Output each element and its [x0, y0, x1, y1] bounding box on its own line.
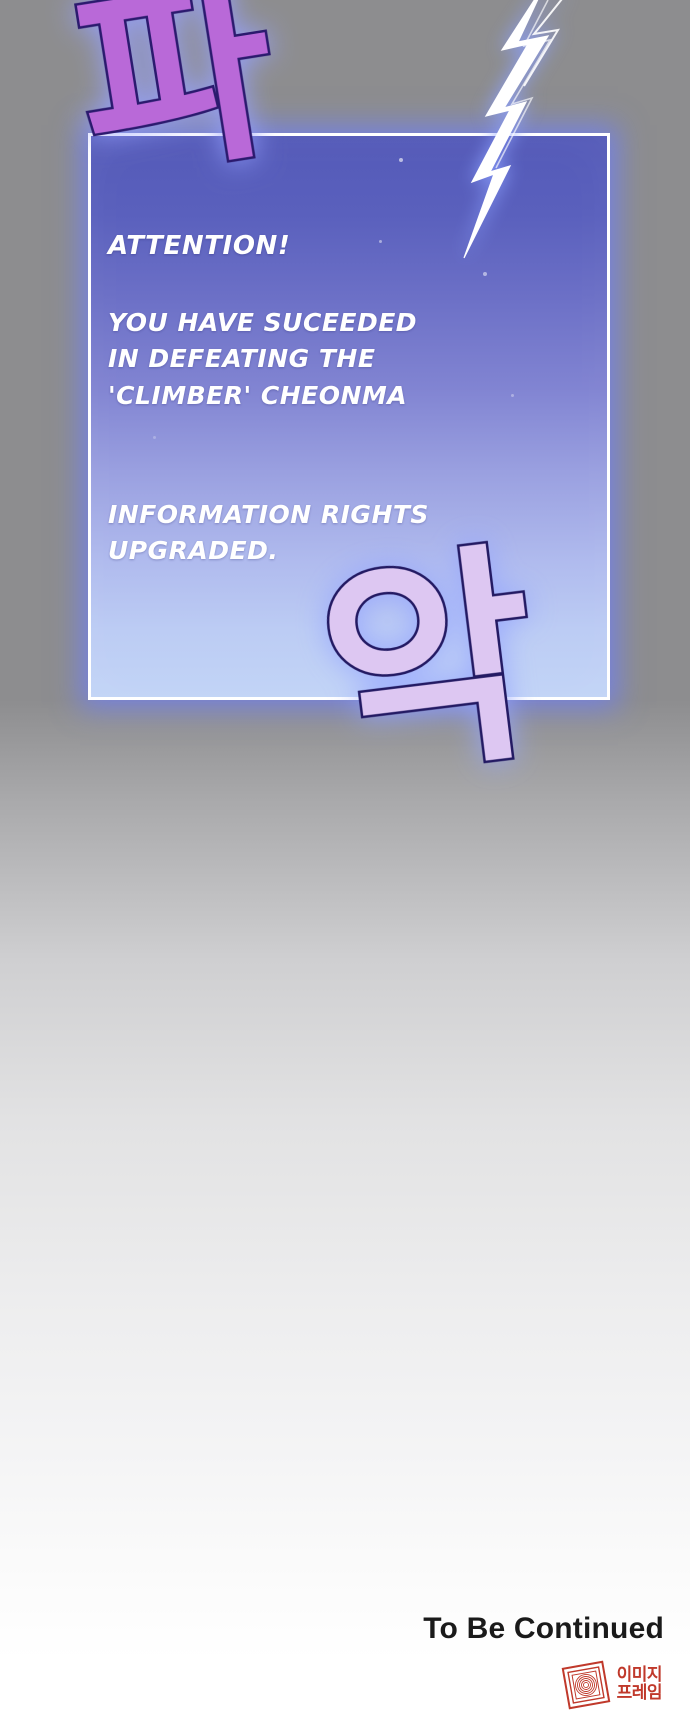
system-message-panel [88, 133, 610, 700]
panel-result-text: INFORMATION RIGHTS UPGRADED. [108, 497, 538, 570]
to-be-continued-label: To Be Continued [423, 1612, 664, 1646]
panel-heading: ATTENTION! [108, 228, 528, 265]
watermark-label: 이미지 프레임 [617, 1667, 662, 1703]
webtoon-page: 파 ATTENTION! YOU HAVE SUCEEDED IN DEFEAT… [0, 0, 690, 1724]
speck [483, 272, 487, 276]
speck [153, 436, 156, 439]
panel-body-text: YOU HAVE SUCEEDED IN DEFEATING THE 'CLIM… [108, 305, 538, 414]
watermark: 이미지 프레임 [563, 1662, 662, 1708]
speck [399, 158, 403, 162]
image-frame-logo-icon [559, 1658, 612, 1711]
